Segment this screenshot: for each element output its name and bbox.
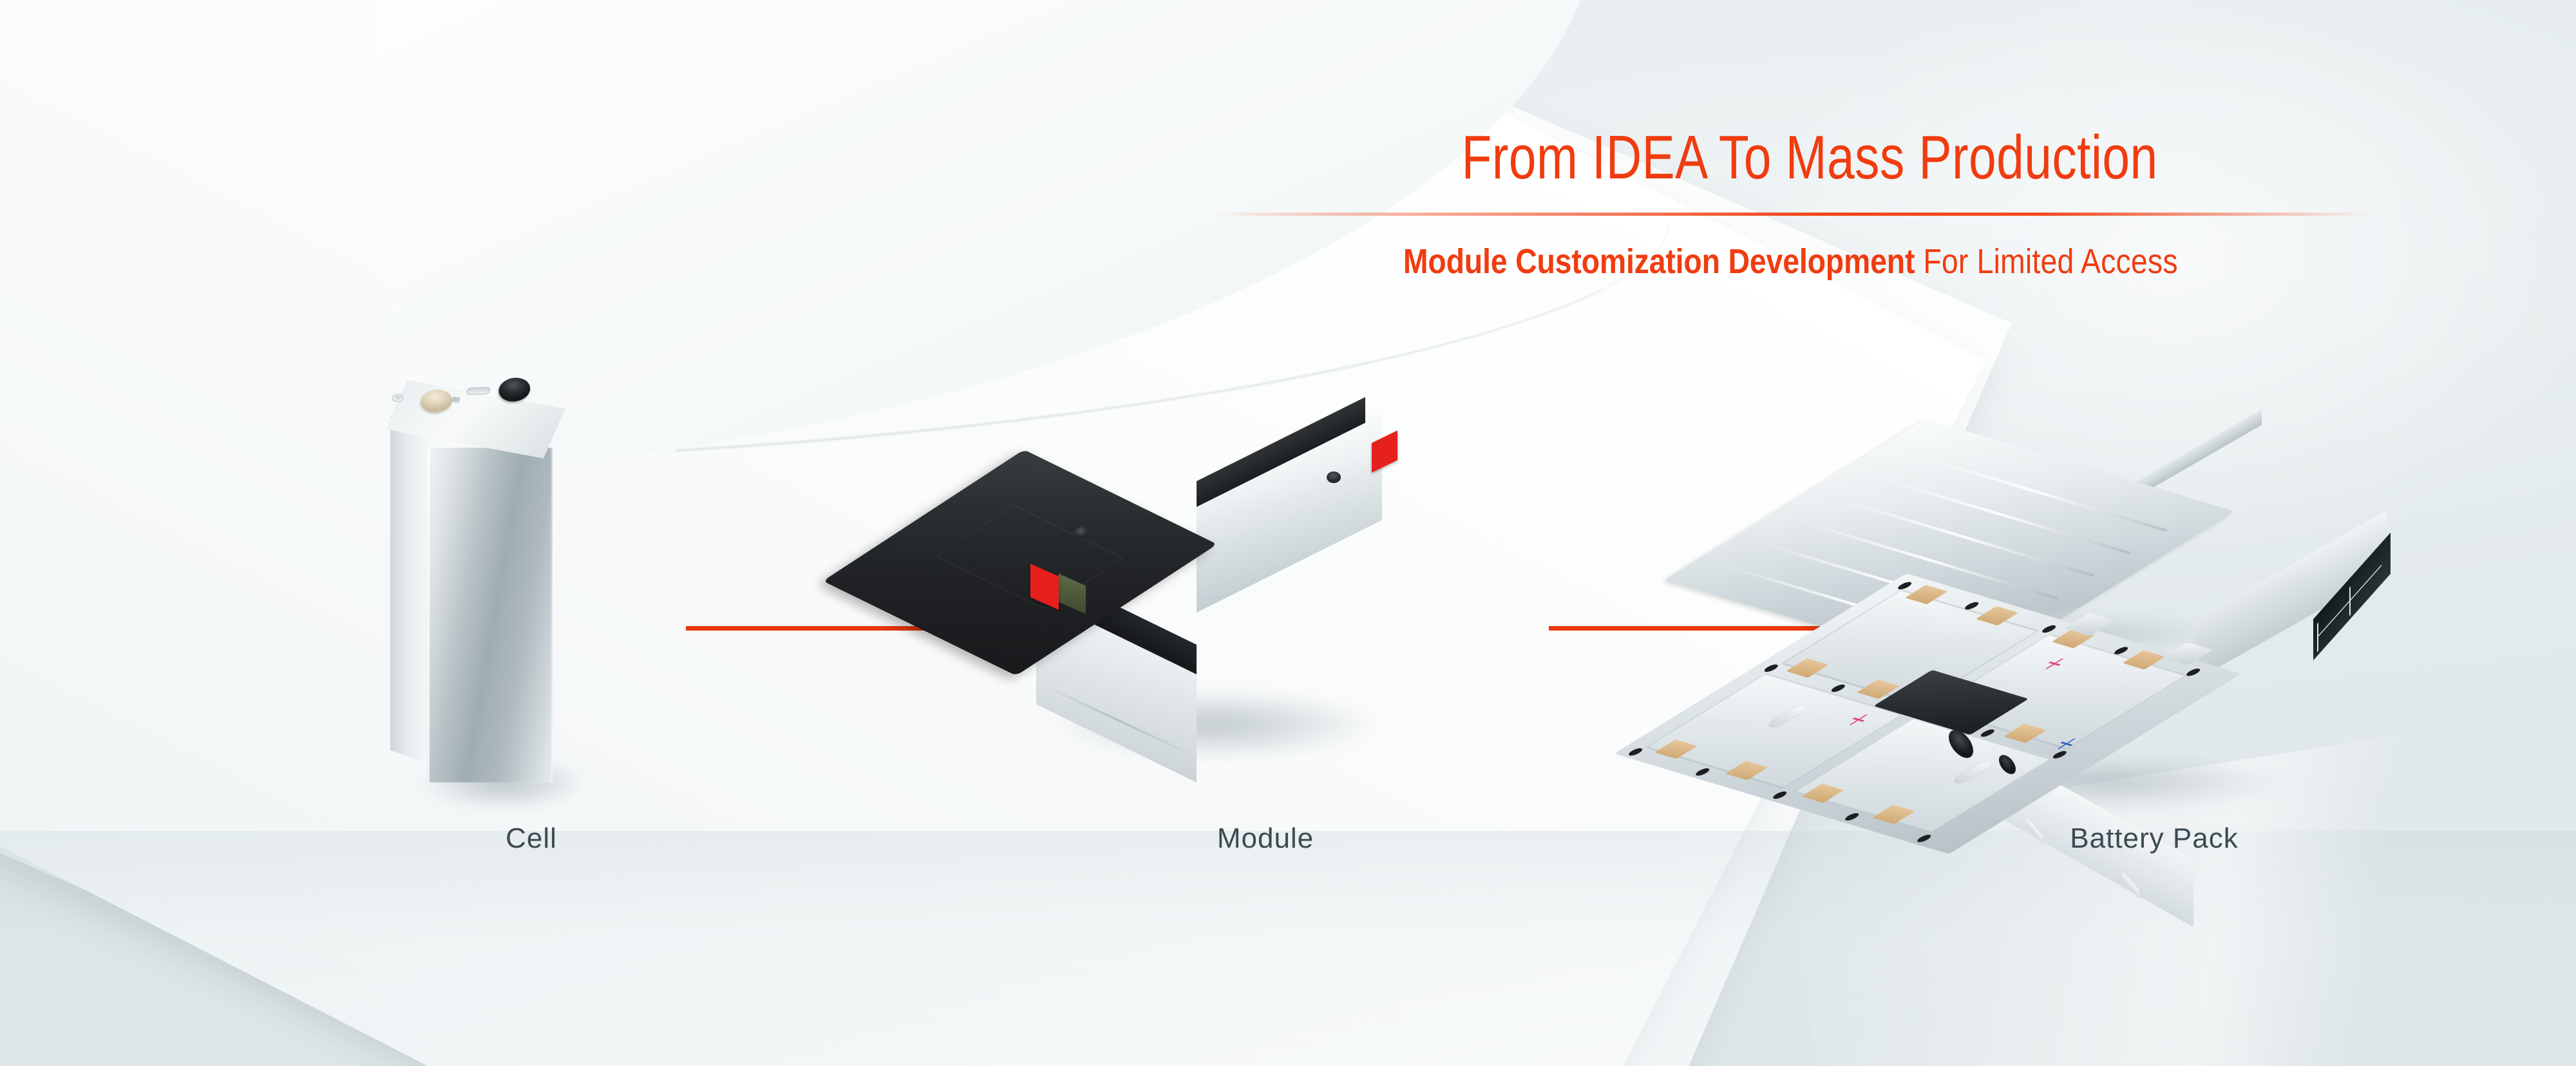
illustration-stage: From IDEA To Mass Production Module Cust… bbox=[0, 0, 2576, 1066]
battery-cell-illustration bbox=[412, 422, 625, 808]
caption-cell: Cell bbox=[338, 823, 724, 855]
caption-module: Module bbox=[1072, 823, 1459, 855]
subtitle-light: For Limited Access bbox=[1915, 242, 2177, 281]
caption-battery-pack: Battery Pack bbox=[1961, 823, 2347, 855]
cell-front-face bbox=[428, 448, 553, 783]
subtitle-strong: Module Customization Development bbox=[1403, 242, 1915, 281]
heading-divider bbox=[1211, 213, 2370, 216]
module-screw-icon bbox=[1327, 471, 1341, 483]
battery-module-illustration bbox=[992, 457, 1520, 792]
page-title: From IDEA To Mass Production bbox=[1408, 126, 2211, 190]
module-screw-icon bbox=[1074, 527, 1088, 538]
heading-block: From IDEA To Mass Production bbox=[1307, 126, 2312, 190]
cell-positive-terminal-icon bbox=[417, 387, 456, 415]
cell-marking bbox=[451, 396, 461, 403]
cell-side-face bbox=[390, 415, 429, 763]
cell-edge-seam bbox=[428, 449, 430, 784]
cell-vent-icon bbox=[466, 387, 491, 395]
page-subtitle: Module Customization Development For Lim… bbox=[1211, 243, 2370, 281]
pack-extrusion-cutaway bbox=[2313, 533, 2391, 660]
arrow-shaft bbox=[1549, 626, 1819, 631]
divider-line bbox=[1211, 213, 2370, 216]
battery-pack-illustration bbox=[1855, 412, 2434, 799]
